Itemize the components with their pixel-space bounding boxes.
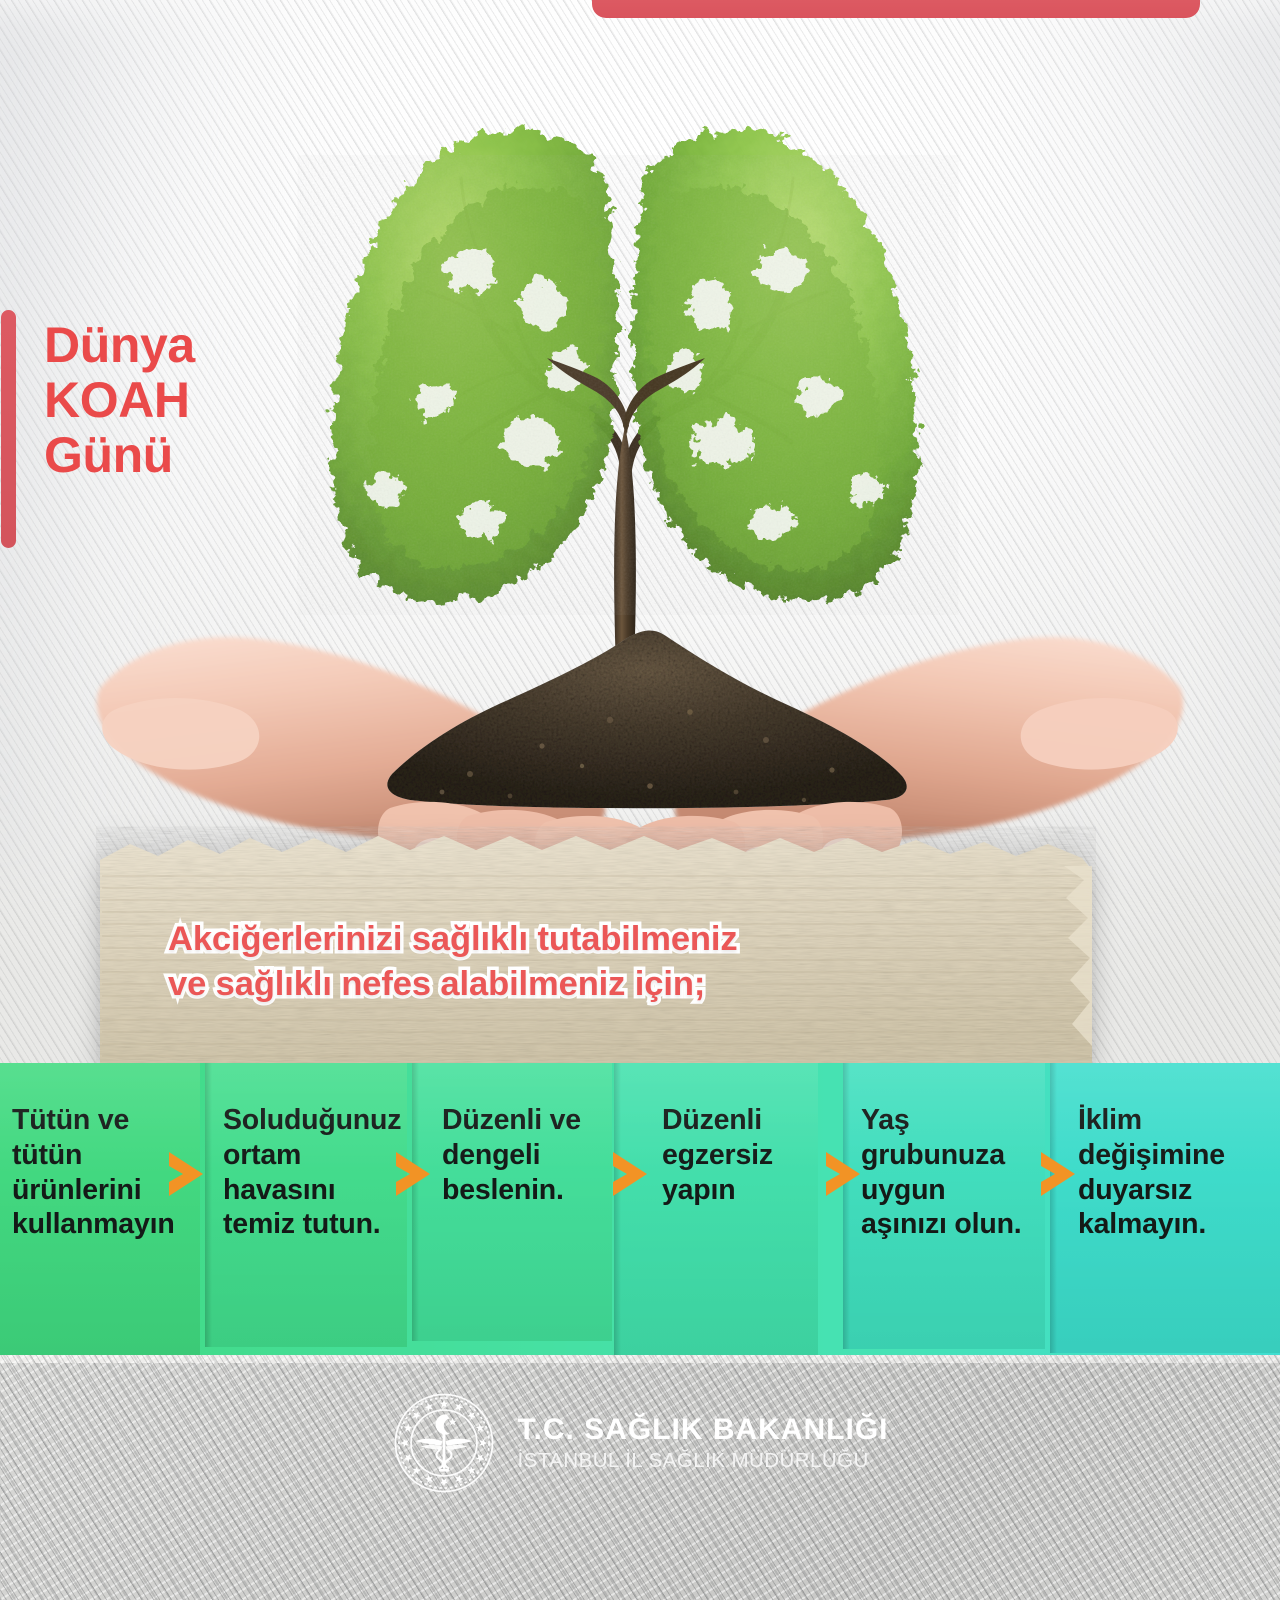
headline-line-2: ve sağlıklı nefes alabilmeniz için; bbox=[168, 962, 1068, 1007]
headline-line-1: Akciğerlerinizi sağlıklı tutabilmeniz bbox=[168, 917, 1068, 962]
tip-card: Soluduğunuz ortam havasını temiz tutun. bbox=[205, 1063, 407, 1347]
tip-card-edge bbox=[614, 1063, 621, 1355]
poster-root: Akciğerlerinizi sağlıklı tutabilmeniz ve… bbox=[0, 0, 1280, 1600]
tip-card-text: Düzenli ve dengeli beslenin. bbox=[442, 1103, 610, 1207]
tip-card: Düzenli egzersiz yapın bbox=[614, 1063, 818, 1355]
title-line-3: Günü bbox=[44, 428, 195, 483]
tip-card-text: Yaş grubunuza uygun aşınızı olun. bbox=[861, 1103, 1037, 1242]
ministry-logo: T.C. SAĞLIK BAKANLIĞI İSTANBUL İL SAĞLIK… bbox=[0, 1391, 1280, 1495]
tips-band: Tütün ve tütün ürünlerini kullanmayınSol… bbox=[0, 1063, 1280, 1363]
tip-card-edge bbox=[843, 1063, 850, 1349]
tip-card-text: Soluduğunuz ortam havasını temiz tutun. bbox=[223, 1103, 407, 1242]
footer: T.C. SAĞLIK BAKANLIĞI İSTANBUL İL SAĞLIK… bbox=[0, 1363, 1280, 1600]
title-line-2: KOAH bbox=[44, 373, 195, 428]
tip-card-edge bbox=[412, 1063, 419, 1341]
chevron-right-icon bbox=[1035, 1148, 1081, 1200]
ministry-emblem-icon bbox=[392, 1391, 496, 1495]
title-accent-bar bbox=[1, 310, 16, 548]
tip-card-edge bbox=[1050, 1063, 1057, 1353]
hero-photo-scene: Akciğerlerinizi sağlıklı tutabilmeniz ve… bbox=[0, 0, 1280, 1070]
chevron-right-icon bbox=[820, 1148, 866, 1200]
directorate-name: İSTANBUL İL SAĞLIK MÜDÜRLÜĞÜ bbox=[518, 1449, 889, 1474]
chevron-right-icon bbox=[607, 1148, 653, 1200]
tip-card: Düzenli ve dengeli beslenin. bbox=[412, 1063, 612, 1341]
tip-card-text: Düzenli egzersiz yapın bbox=[662, 1103, 812, 1207]
chevron-right-icon bbox=[390, 1148, 436, 1200]
tip-card-text: İklim değişimine duyarsız kalmayın. bbox=[1078, 1103, 1274, 1242]
page-title: Dünya KOAH Günü bbox=[44, 318, 195, 483]
ministry-logo-text: T.C. SAĞLIK BAKANLIĞI İSTANBUL İL SAĞLIK… bbox=[518, 1413, 889, 1473]
headline: Akciğerlerinizi sağlıklı tutabilmeniz ve… bbox=[168, 917, 1068, 1007]
tip-card: İklim değişimine duyarsız kalmayın. bbox=[1050, 1063, 1280, 1353]
title-line-1: Dünya bbox=[44, 318, 195, 373]
ministry-name: T.C. SAĞLIK BAKANLIĞI bbox=[518, 1413, 889, 1447]
tip-card: Tütün ve tütün ürünlerini kullanmayın bbox=[0, 1063, 200, 1355]
tip-card: Yaş grubunuza uygun aşınızı olun. bbox=[843, 1063, 1045, 1349]
top-accent-bar bbox=[592, 0, 1200, 18]
tip-card-edge bbox=[205, 1063, 212, 1347]
chevron-right-icon bbox=[163, 1148, 209, 1200]
tips-card-list: Tütün ve tütün ürünlerini kullanmayınSol… bbox=[0, 1063, 1280, 1363]
